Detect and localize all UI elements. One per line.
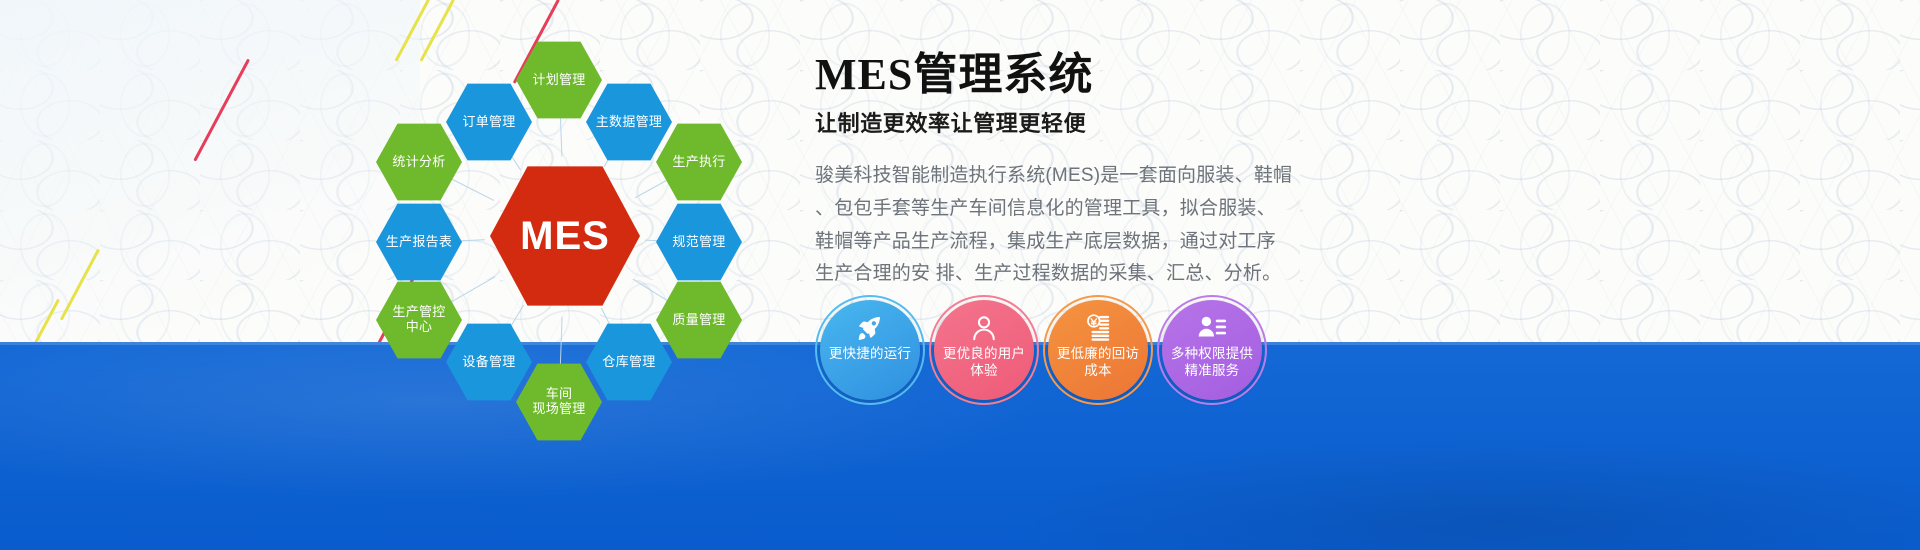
hex-node-label: 统计分析 bbox=[392, 155, 445, 170]
hex-node-11[interactable]: 统计分析 bbox=[376, 122, 462, 202]
headline-block: MES管理系统 让制造更效率让管理更轻便 骏美科技智能制造执行系统(MES)是一… bbox=[815, 52, 1815, 291]
description-line-3: 鞋帽等产品生产流程，集成生产底层数据，通过对工序 bbox=[815, 226, 1270, 259]
hex-node-label: 仓库管理 bbox=[602, 355, 655, 370]
hex-node-2[interactable]: 主数据管理 bbox=[586, 82, 672, 162]
hex-node-label: 生产执行 bbox=[672, 155, 725, 170]
hex-core-label: MES bbox=[520, 213, 610, 259]
hex-node-core[interactable]: MES bbox=[490, 165, 640, 307]
hex-node-3[interactable]: 生产执行 bbox=[656, 122, 742, 202]
description-line-4: 生产合理的安 排、生产过程数据的采集、汇总、分析。 bbox=[815, 258, 1270, 291]
mes-banner: 计划管理主数据管理生产执行规范管理质量管理仓库管理车间 现场管理设备管理生产管控… bbox=[0, 0, 1920, 550]
hex-node-1[interactable]: 计划管理 bbox=[516, 40, 602, 120]
badge-ring bbox=[815, 295, 925, 405]
badge-ring bbox=[929, 295, 1039, 405]
feature-badge-2[interactable]: 更优良的用户 体验 bbox=[934, 300, 1034, 400]
description-paragraph: 骏美科技智能制造执行系统(MES)是一套面向服装、鞋帽、包包手套等生产车间信息化… bbox=[815, 160, 1270, 291]
mes-hex-diagram: 计划管理主数据管理生产执行规范管理质量管理仓库管理车间 现场管理设备管理生产管控… bbox=[330, 10, 800, 430]
hex-node-label: 质量管理 bbox=[672, 313, 725, 328]
description-line-1: 骏美科技智能制造执行系统(MES)是一套面向服装、鞋帽 bbox=[815, 160, 1270, 193]
hex-node-label: 生产报告表 bbox=[386, 235, 453, 250]
page-title: MES管理系统 bbox=[815, 52, 1815, 98]
description-line-2: 、包包手套等生产车间信息化的管理工具，拟合服装、 bbox=[815, 193, 1270, 226]
page-subtitle: 让制造更效率让管理更轻便 bbox=[815, 106, 1815, 138]
hex-node-8[interactable]: 设备管理 bbox=[446, 322, 532, 402]
feature-badge-4[interactable]: 多种权限提供 精准服务 bbox=[1162, 300, 1262, 400]
hex-node-label: 设备管理 bbox=[462, 355, 515, 370]
hex-node-4[interactable]: 规范管理 bbox=[656, 202, 742, 282]
hex-node-label: 车间 现场管理 bbox=[532, 387, 585, 417]
badge-ring bbox=[1043, 295, 1153, 405]
hex-node-label: 计划管理 bbox=[532, 73, 585, 88]
hex-node-12[interactable]: 订单管理 bbox=[446, 82, 532, 162]
hex-node-9[interactable]: 生产管控 中心 bbox=[376, 280, 462, 360]
hex-node-6[interactable]: 仓库管理 bbox=[586, 322, 672, 402]
hex-node-label: 订单管理 bbox=[462, 115, 515, 130]
hex-node-label: 生产管控 中心 bbox=[392, 305, 445, 335]
hex-node-label: 规范管理 bbox=[672, 235, 725, 250]
feature-badge-1[interactable]: 更快捷的运行 bbox=[820, 300, 920, 400]
feature-badge-row: 更快捷的运行更优良的用户 体验更低廉的回访 成本多种权限提供 精准服务 bbox=[820, 300, 1262, 400]
hex-node-label: 主数据管理 bbox=[596, 115, 663, 130]
feature-badge-3[interactable]: 更低廉的回访 成本 bbox=[1048, 300, 1148, 400]
hex-node-5[interactable]: 质量管理 bbox=[656, 280, 742, 360]
badge-ring bbox=[1157, 295, 1267, 405]
hex-node-10[interactable]: 生产报告表 bbox=[376, 202, 462, 282]
